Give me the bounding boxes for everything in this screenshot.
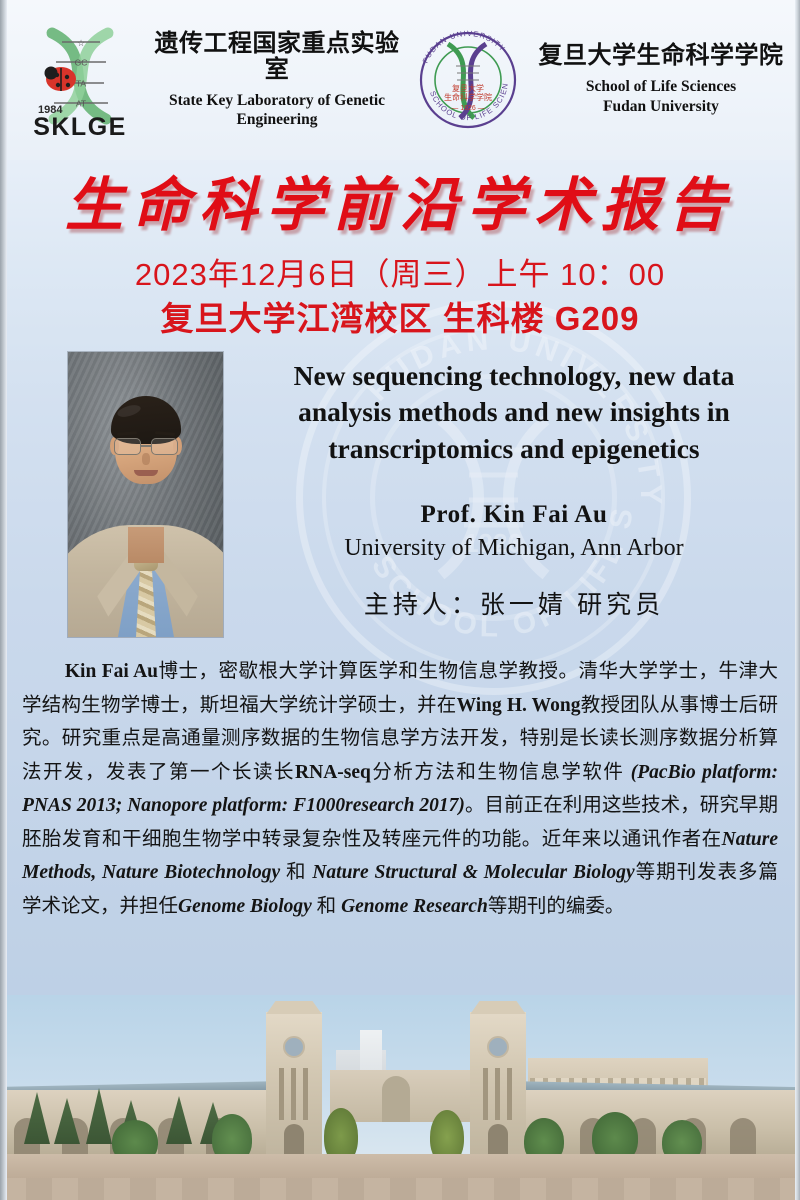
school-name-en-line2: Fudan University: [536, 97, 786, 117]
left-logo-block: ☆ GC TA AT 1984 SKLGE 遗传工程国家重点实验室: [14, 20, 786, 140]
svg-text:☆: ☆: [77, 38, 85, 48]
fudan-jiangwan-campus-gate-photo: [0, 995, 800, 1200]
talk-title: New sequencing technology, new data anal…: [246, 358, 782, 467]
speaker-portrait-photo: [68, 352, 223, 637]
poster-header: ☆ GC TA AT 1984 SKLGE 遗传工程国家重点实验室: [0, 0, 800, 160]
event-datetime: 2023年12月6日（周三）上午 10：00: [0, 249, 800, 294]
school-name-block: 复旦大学生命科学学院 School of Life Sciences Fudan…: [536, 43, 786, 118]
page-edge-left: [0, 0, 7, 1200]
seminar-poster: FUDAN UNIVERSITY SCHOOL OF LIFE SCIENCES…: [0, 0, 800, 1200]
fudan-school-of-life-sciences-seal-icon: FUDAN UNIVERSITY SCHOOL OF LIFE SCIENCES…: [412, 20, 524, 140]
school-name-en: School of Life Sciences Fudan University: [536, 77, 786, 117]
lab-name-cn: 遗传工程国家重点实验室: [146, 31, 408, 84]
speaker-bio: Kin Fai Au博士，密歇根大学计算医学和生物信息学教授。清华大学学士，牛津…: [22, 655, 778, 923]
host-line: 主持人：张一婧 研究员: [246, 585, 782, 621]
svg-text:— 1926 —: — 1926 —: [451, 105, 484, 112]
page-edge-right: [795, 0, 800, 1200]
speaker-name: Prof. Kin Fai Au: [246, 501, 782, 529]
sklge-acronym: SKLGE: [33, 113, 127, 139]
svg-text:GC: GC: [75, 58, 88, 68]
svg-text:复旦大学: 复旦大学: [452, 83, 484, 93]
svg-text:AT: AT: [76, 99, 86, 109]
series-title: 生命科学前沿学术报告: [0, 176, 800, 237]
school-name-en-line1: School of Life Sciences: [536, 77, 786, 97]
lab-name-en-line1: State Key Laboratory of Genetic: [146, 91, 408, 110]
event-venue: 复旦大学江湾校区 生科楼 G209: [0, 292, 800, 340]
school-name-cn: 复旦大学生命科学学院: [536, 43, 786, 69]
svg-text:生命科学学院: 生命科学学院: [444, 92, 492, 102]
lab-name-en: State Key Laboratory of Genetic Engineer…: [146, 91, 408, 130]
sklge-dna-ladybug-logo-icon: ☆ GC TA AT 1984 SKLGE: [24, 21, 136, 139]
lab-name-en-line2: Engineering: [146, 110, 408, 129]
svg-text:TA: TA: [76, 79, 87, 89]
lab-name-block: 遗传工程国家重点实验室 State Key Laboratory of Gene…: [146, 31, 408, 130]
speaker-affiliation: University of Michigan, Ann Arbor: [246, 535, 782, 562]
